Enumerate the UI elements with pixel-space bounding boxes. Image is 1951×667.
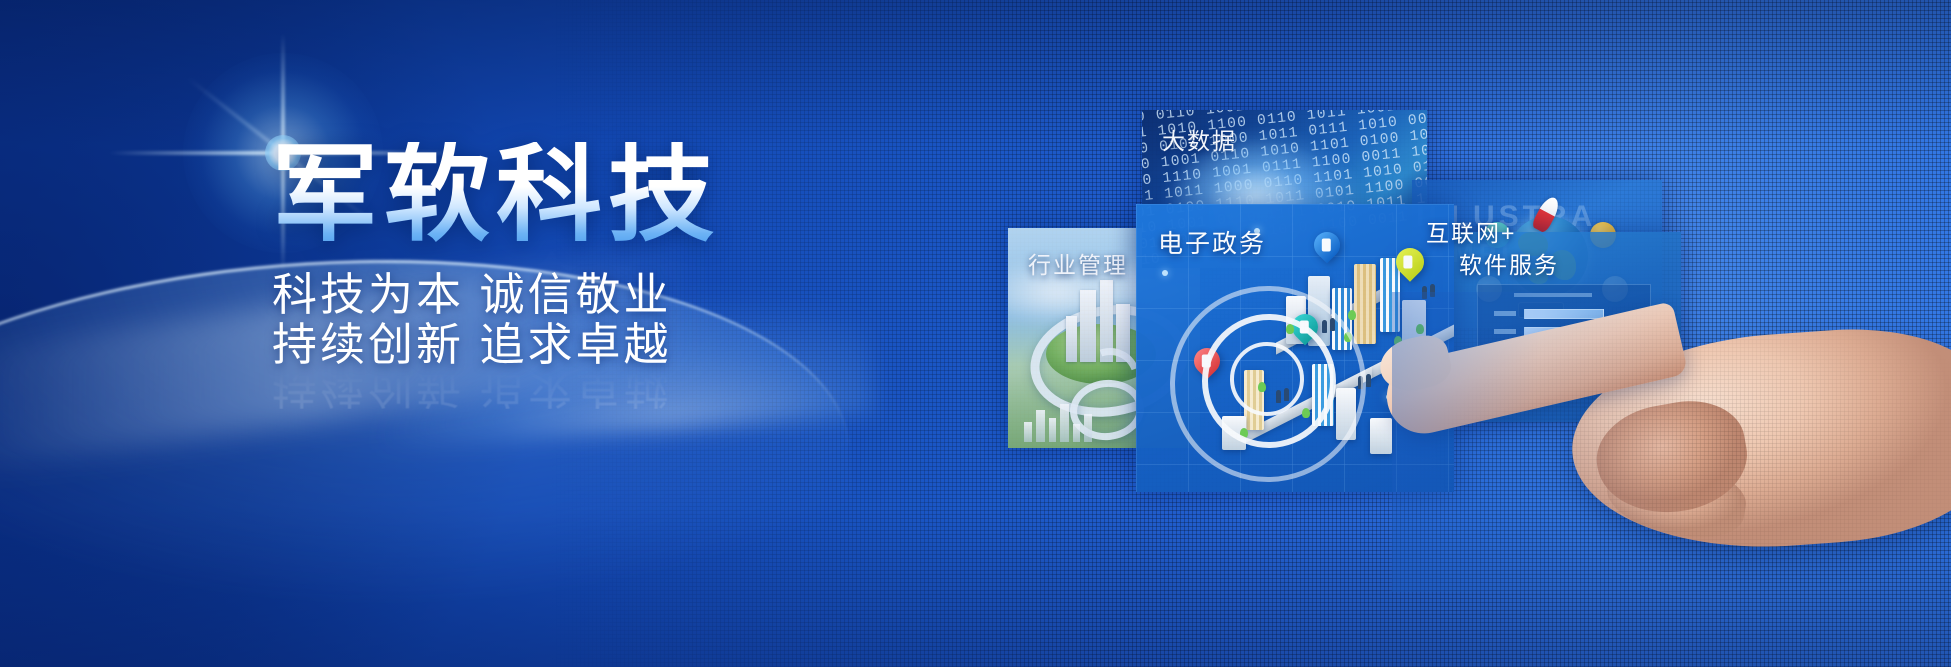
- card-industry-skyline: [1022, 396, 1112, 442]
- page-title: 军软科技: [272, 142, 720, 248]
- card-industry-building: [1066, 316, 1077, 362]
- card-software-label: 软件服务: [1459, 246, 1559, 280]
- card-internet-label: 互联网+: [1426, 214, 1516, 248]
- card-bigdata-label: 大数据: [1162, 122, 1237, 156]
- subtitle-line-1: 科技为本 诚信敬业: [272, 272, 672, 317]
- pointing-hand: [1392, 292, 1951, 592]
- card-egov-label: 电子政务: [1158, 224, 1266, 260]
- card-egov-building: [1354, 264, 1376, 344]
- banner-stage: 军软科技 科技为本 诚信敬业 持续创新 追求卓越 持续创新 追求卓越 行业管理 …: [0, 0, 1951, 667]
- card-egov-ripple-faint: [1170, 286, 1366, 482]
- card-industry-label: 行业管理: [1028, 246, 1128, 280]
- card-egov-node-dot: [1162, 270, 1168, 276]
- subtitle-reflection: 持续创新 追求卓越: [272, 364, 672, 409]
- card-egov-person: [1366, 374, 1371, 387]
- card-egov-building: [1370, 418, 1392, 454]
- card-egov-tree: [1348, 310, 1356, 320]
- subtitle-line-2: 持续创新 追求卓越: [272, 322, 672, 367]
